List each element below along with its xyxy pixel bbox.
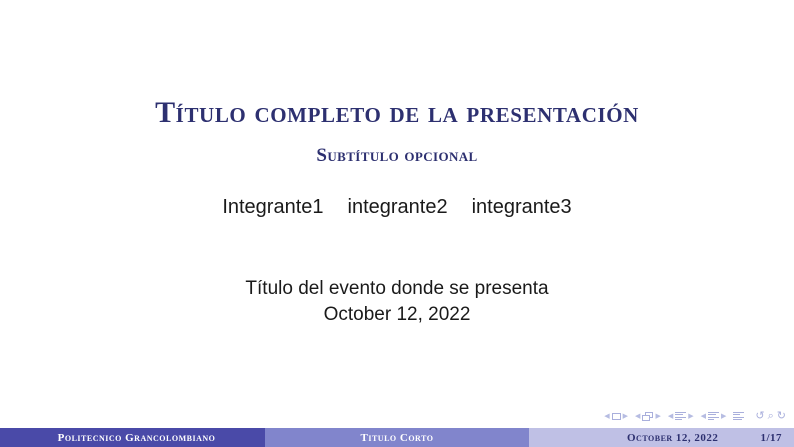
back-icon[interactable]: ↺ [755,411,764,422]
event-date: October 12, 2022 [0,302,794,328]
section-icon[interactable] [708,412,719,421]
event-block: Título del evento donde se presenta Octo… [0,276,794,327]
author-3: integrante3 [460,196,584,219]
slide-navigation-group[interactable]: ◀ ▶ [604,413,628,420]
subsection-navigation-group[interactable]: ◀ ▶ [668,412,694,421]
authors-list: Integrante1integrante2integrante3 [0,196,794,219]
footer-date: October 12, 2022 [627,432,718,444]
slide-prev-arrow-icon[interactable]: ◀ [604,413,609,420]
presentation-slide: Título completo de la presentación Subtí… [0,0,794,447]
presentation-subtitle: Subtítulo opcional [0,145,794,167]
forward-icon[interactable]: ↻ [777,411,786,422]
footer-right: October 12, 2022 1/17 [529,428,794,447]
footer-institution: Politecnico Grancolombiano [0,428,265,447]
section-next-arrow-icon[interactable]: ▶ [721,413,726,420]
navigation-extras[interactable]: ↺ ⌕ ↻ [755,411,786,422]
subsection-icon[interactable] [675,412,686,421]
beamer-navigation-bar[interactable]: ◀ ▶ ◀ ▶ ◀ ▶ ◀ ▶ ↺ ⌕ ↻ [604,408,786,424]
subsection-prev-arrow-icon[interactable]: ◀ [668,413,673,420]
document-icon[interactable] [733,412,744,421]
author-2: integrante2 [336,196,460,219]
event-name: Título del evento donde se presenta [0,276,794,302]
slide-footer: Politecnico Grancolombiano Titulo Corto … [0,428,794,447]
footer-page-number: 1/17 [760,432,782,444]
frame-prev-arrow-icon[interactable]: ◀ [635,413,640,420]
slide-icon[interactable] [612,413,621,420]
search-icon[interactable]: ⌕ [768,411,774,422]
footer-short-title: Titulo Corto [265,428,529,447]
frame-icon[interactable] [642,412,653,421]
subsection-next-arrow-icon[interactable]: ▶ [688,413,693,420]
section-navigation-group[interactable]: ◀ ▶ [701,412,727,421]
section-prev-arrow-icon[interactable]: ◀ [701,413,706,420]
frame-navigation-group[interactable]: ◀ ▶ [635,412,661,421]
title-block: Título completo de la presentación Subtí… [0,96,794,166]
author-1: Integrante1 [210,196,335,219]
frame-next-arrow-icon[interactable]: ▶ [655,413,660,420]
slide-next-arrow-icon[interactable]: ▶ [623,413,628,420]
presentation-title: Título completo de la presentación [0,96,794,131]
